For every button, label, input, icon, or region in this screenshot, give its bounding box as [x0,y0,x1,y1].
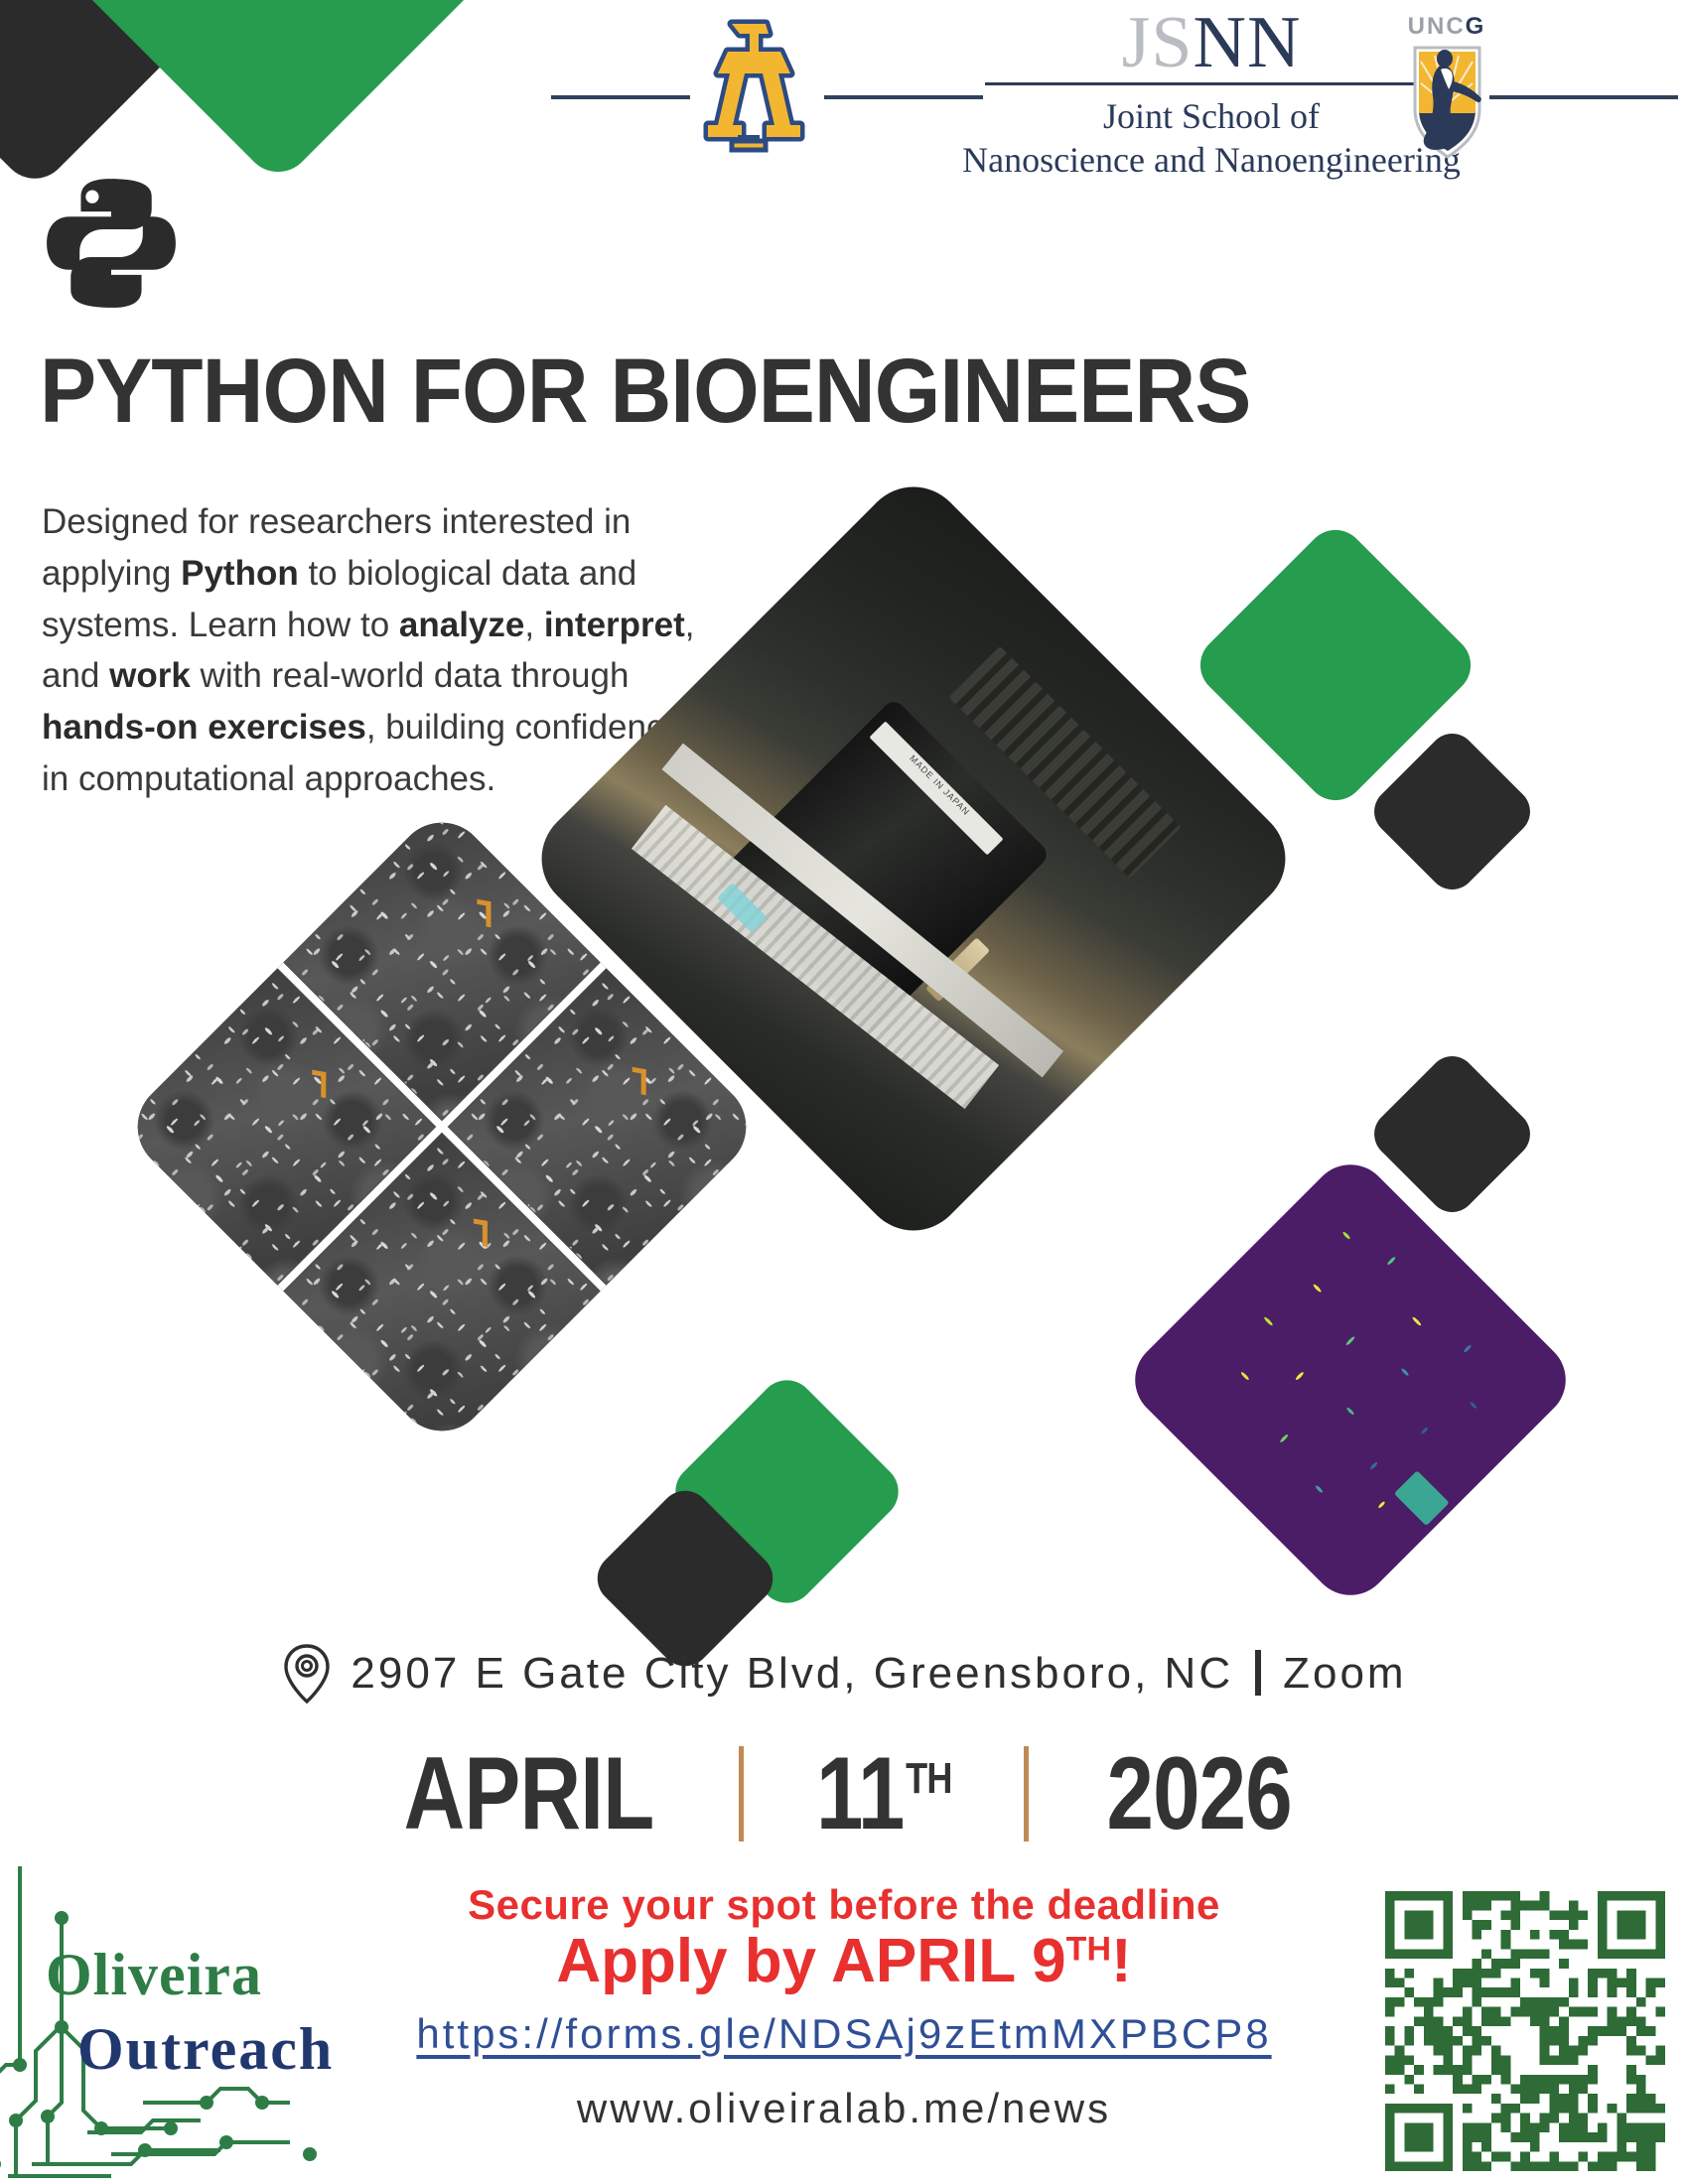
north-carolina-at-logo [688,16,807,165]
svg-text:UNCG: UNCG [1408,13,1486,40]
map-pin-icon [281,1643,333,1705]
location-modality: Zoom [1283,1649,1406,1698]
location-row: 2907 E Gate City Blvd, Greensboro, NCZoo… [0,1643,1688,1705]
location-divider [1255,1650,1261,1696]
date-month: APRIL [403,1742,653,1845]
segmentation-blobs [1156,1185,1545,1574]
description-segment-9: hands-on exercises [42,708,366,747]
date-day-number: 11 [816,1736,905,1851]
apply-deadline-suffix: TH [1066,1930,1111,1968]
description-segment-4: , [524,606,543,644]
description-segment-1: Python [181,554,299,593]
qr-code[interactable] [1385,1891,1665,2171]
location-text: 2907 E Gate City Blvd, Greensboro, NCZoo… [351,1649,1406,1699]
description-segment-5: interpret [544,606,685,644]
description-segment-3: analyze [399,606,524,644]
micrograph-arrow-icon [474,1218,488,1246]
date-day-group: 11TH [816,1742,952,1845]
micrograph-arrow-icon [633,1066,646,1094]
brand-oliveira-text: Oliveira [46,1941,262,2009]
micrograph-arrow-icon [477,898,491,926]
event-date-row: APRIL 11TH 2026 [0,1742,1688,1845]
header-rule-right [1489,95,1678,99]
date-day-suffix: TH [906,1754,951,1803]
description-segment-8: with real-world data through [191,656,630,695]
brand-outreach-text: Outreach [77,2015,334,2084]
date-divider-1 [739,1746,744,1842]
description-segment-7: work [109,656,191,695]
viridis-cell-segmentation-image [1119,1149,1583,1612]
location-address: 2907 E Gate City Blvd, Greensboro, NC [351,1649,1233,1698]
jsnn-letter-s: S [1151,2,1193,83]
jsnn-letters-nn: NN [1194,2,1302,83]
description-paragraph: Designed for researchers interested in a… [42,496,697,805]
jsnn-letter-j: J [1122,2,1152,83]
micrograph-arrow-icon [313,1070,327,1098]
uncg-logo: UNCG [1395,10,1499,169]
date-divider-2 [1024,1746,1029,1842]
page-title: PYTHON FOR BIOENGINEERS [40,345,1148,437]
date-year: 2026 [1107,1742,1292,1845]
apply-deadline-bang: ! [1111,1927,1132,1995]
header-rule-left [551,95,690,99]
apply-deadline-prefix: Apply by APRIL 9 [556,1927,1065,1995]
poster-header: JSNN Joint School of Nanoscience and Nan… [0,0,1688,199]
python-logo-icon [42,174,181,313]
